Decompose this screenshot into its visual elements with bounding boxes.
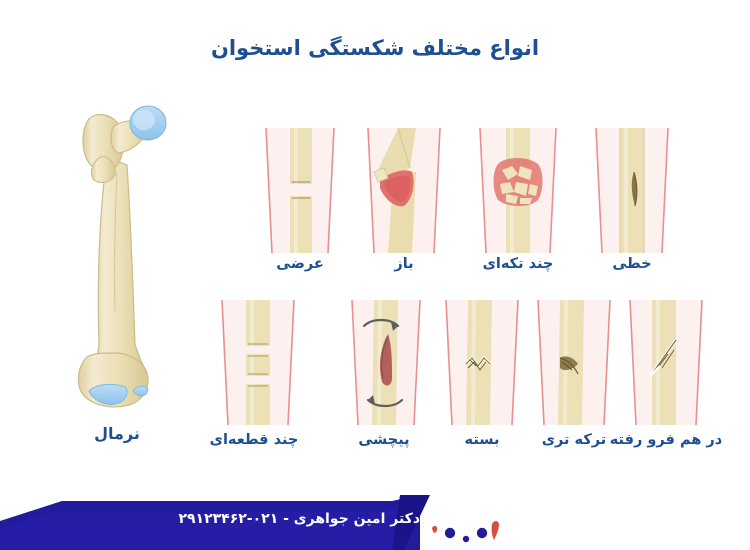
fracture-label-spiral: پیچشی <box>320 432 448 448</box>
fracture-label-segmental: چند قطعه‌ای <box>190 432 318 448</box>
open-fracture-icon <box>354 128 454 253</box>
normal-femur-label: نرمال <box>52 424 182 443</box>
fracture-card-open[interactable]: باز <box>354 128 454 253</box>
page-title: انواع مختلف شکستگی استخوان <box>0 36 750 60</box>
infographic-canvas: انواع مختلف شکستگی استخوان <box>0 0 750 550</box>
fracture-card-closed[interactable]: بسته <box>432 300 532 425</box>
transverse-fracture-icon <box>250 128 350 253</box>
fracture-card-transverse[interactable]: عرضی <box>250 128 350 253</box>
fracture-card-spiral[interactable]: پیچشی <box>334 300 434 425</box>
closed-fracture-icon <box>432 300 532 425</box>
impacted-fracture-icon <box>616 300 716 425</box>
pelvis-logo-icon <box>430 498 500 548</box>
femur-bone-icon <box>55 95 175 415</box>
fracture-row-2: در هم فرو رفته <box>186 300 746 460</box>
fracture-card-impacted[interactable]: در هم فرو رفته <box>616 300 716 425</box>
fracture-label-linear: خطی <box>568 256 696 272</box>
footer-banner: دکتر امین جواهری - ۰۲۱-۲۹۱۲۳۴۶۲ <box>0 495 750 550</box>
segmental-fracture-icon <box>204 300 304 425</box>
fracture-card-linear[interactable]: خطی <box>582 128 682 253</box>
fracture-label-comminuted: چند تکه‌ای <box>454 256 582 272</box>
comminuted-fracture-icon <box>468 128 568 253</box>
normal-femur-figure <box>55 95 175 415</box>
fracture-panels: خطی <box>186 128 746 458</box>
fracture-row-1: خطی <box>186 128 746 288</box>
fracture-card-comminuted[interactable]: چند تکه‌ای <box>468 128 568 253</box>
fracture-label-transverse: عرضی <box>236 256 364 272</box>
spiral-fracture-icon <box>334 300 434 425</box>
fracture-card-segmental[interactable]: چند قطعه‌ای <box>204 300 304 425</box>
linear-fracture-icon <box>582 128 682 253</box>
greenstick-fracture-icon <box>524 300 624 425</box>
fracture-card-greenstick[interactable]: ترکه تری <box>524 300 624 425</box>
footer-contact-text: دکتر امین جواهری - ۰۲۱-۲۹۱۲۳۴۶۲ <box>178 511 420 527</box>
